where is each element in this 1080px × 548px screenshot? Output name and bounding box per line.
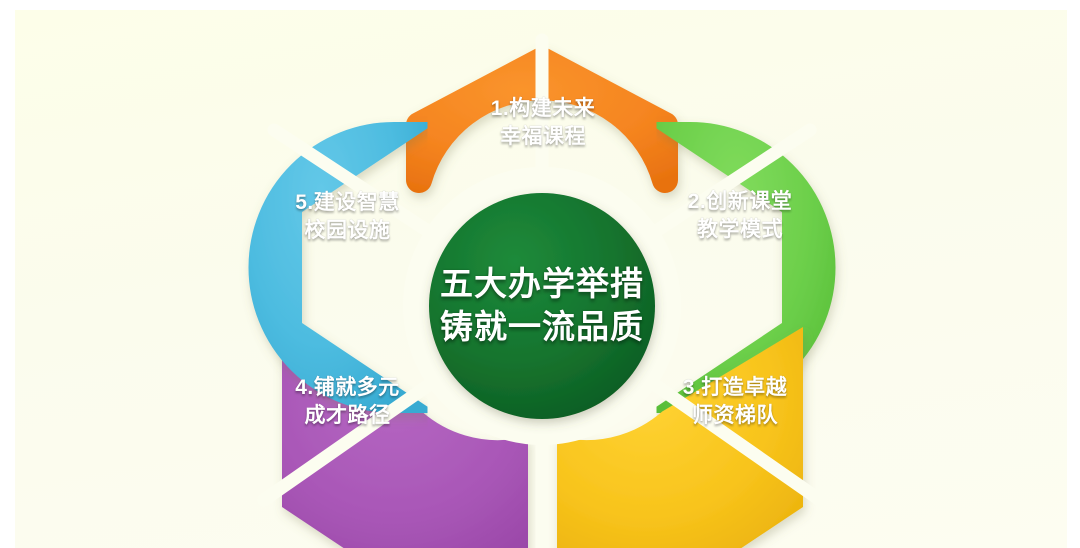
- petal-wheel-graphic: [0, 0, 1080, 548]
- hub-circle[interactable]: [429, 193, 655, 419]
- petal-shape-5[interactable]: [262, 135, 395, 400]
- diagram-canvas: 1.构建未来 幸福课程 2.创新课堂 教学模式 3.打造卓越 师资梯队 4.铺就…: [0, 0, 1080, 548]
